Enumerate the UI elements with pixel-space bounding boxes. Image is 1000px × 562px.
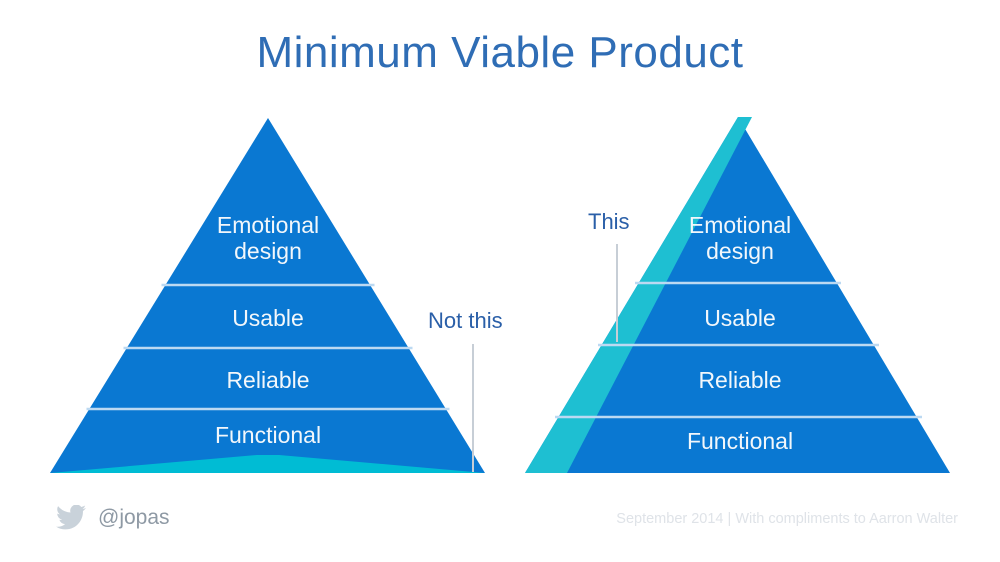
pyramid-this-graphic xyxy=(515,110,965,485)
annotation-not-this-label: Not this xyxy=(428,308,503,334)
page-title: Minimum Viable Product xyxy=(0,28,1000,78)
twitter-handle-text: @jopas xyxy=(98,506,170,530)
pyramid-not-this xyxy=(40,110,500,485)
pyramid-this xyxy=(515,110,965,485)
slide-canvas: Minimum Viable Product Emotional design … xyxy=(0,0,1000,562)
footer-credit-text: September 2014 | With compliments to Aar… xyxy=(616,511,958,527)
annotation-not-this-leader-line xyxy=(472,344,474,472)
footer-attribution: @jopas xyxy=(56,505,170,530)
pyramid-body xyxy=(50,118,485,473)
annotation-this-label: This xyxy=(588,209,630,235)
annotation-this-leader-line xyxy=(616,244,618,342)
pyramid-not-this-graphic xyxy=(40,110,500,485)
twitter-bird-icon xyxy=(56,505,86,530)
